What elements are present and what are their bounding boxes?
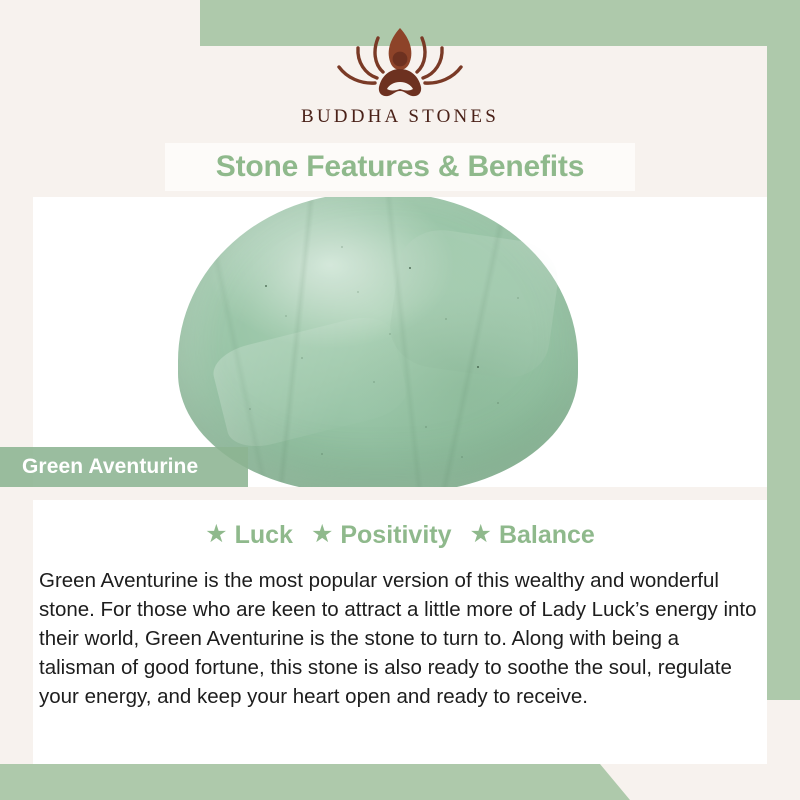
star-icon: ★	[470, 522, 492, 547]
benefit-label-positivity: Positivity	[340, 523, 451, 548]
stone-photo	[33, 197, 767, 487]
star-icon: ★	[311, 522, 333, 547]
frame-bar-bottom	[0, 764, 600, 800]
photo-separator-strip	[33, 487, 767, 500]
content-panel: ★ Luck ★ Positivity ★ Balance Green Aven…	[33, 500, 767, 764]
benefits-row: ★ Luck ★ Positivity ★ Balance	[33, 516, 767, 554]
lotus-meditation-icon	[315, 20, 485, 104]
benefit-label-balance: Balance	[499, 523, 595, 548]
page-title: Stone Features & Benefits	[216, 150, 584, 184]
benefit-item-balance: ★ Balance	[470, 523, 595, 548]
infographic-page: BUDDHA STONES Stone Features & Benefits …	[0, 0, 800, 800]
stone-description: Green Aventurine is the most popular ver…	[35, 566, 765, 712]
green-aventurine-stone-image	[178, 197, 578, 487]
stone-name-badge: Green Aventurine	[0, 447, 248, 487]
brand-name: BUDDHA STONES	[301, 106, 499, 128]
star-icon: ★	[205, 522, 227, 547]
brand-header: BUDDHA STONES	[0, 0, 800, 140]
benefit-label-luck: Luck	[235, 523, 293, 548]
benefit-item-luck: ★ Luck	[205, 523, 293, 548]
frame-bar-bottom-tip	[600, 764, 630, 800]
stone-name-label: Green Aventurine	[22, 455, 198, 479]
benefit-item-positivity: ★ Positivity	[311, 523, 452, 548]
section-title-banner: Stone Features & Benefits	[165, 143, 635, 191]
stone-speckle-texture	[178, 197, 578, 487]
